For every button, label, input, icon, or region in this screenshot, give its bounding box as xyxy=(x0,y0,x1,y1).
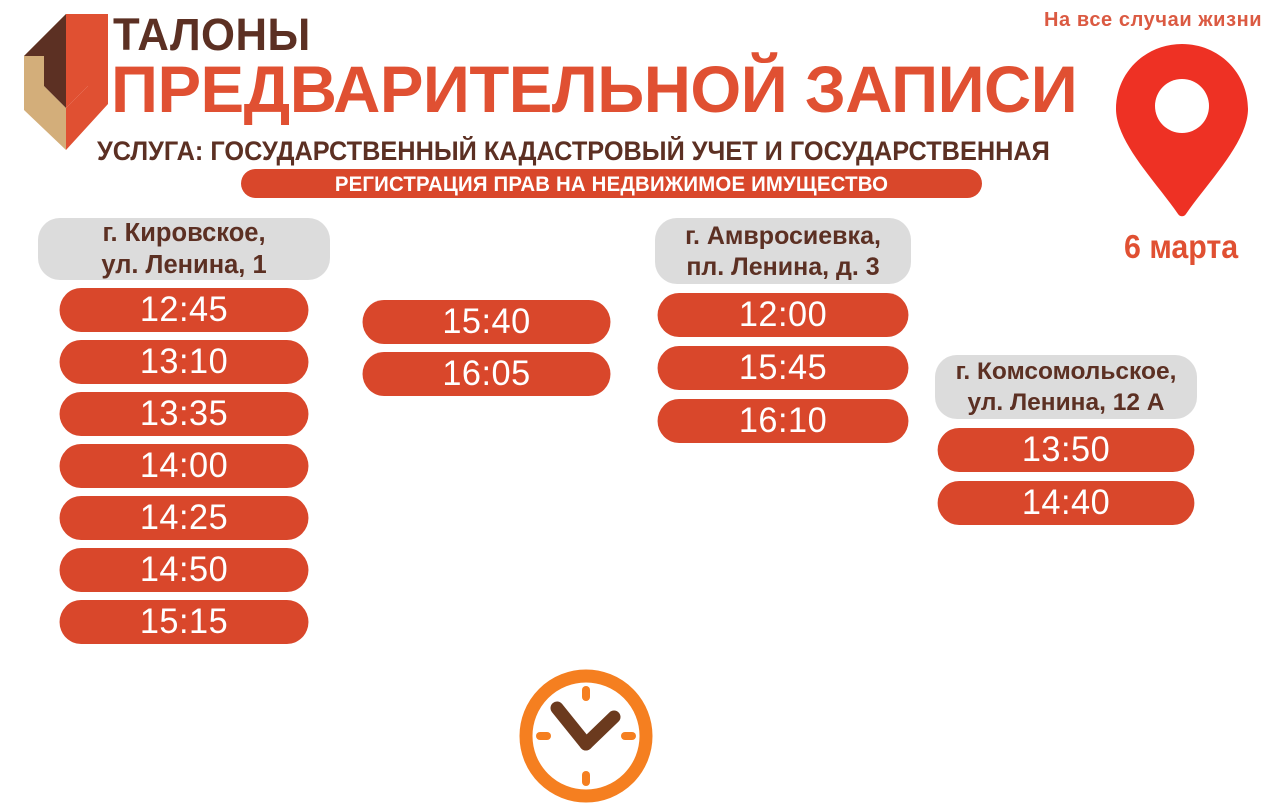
time-slot[interactable]: 15:40 xyxy=(363,300,611,344)
service-badge-label: РЕГИСТРАЦИЯ ПРАВ НА НЕДВИЖИМОЕ ИМУЩЕСТВО xyxy=(252,173,971,197)
page-title-main: ПРЕДВАРИТЕЛЬНОЙ ЗАПИСИ xyxy=(111,56,1077,122)
time-slot[interactable]: 15:45 xyxy=(658,346,909,390)
tagline: На все случаи жизни xyxy=(1044,9,1262,32)
time-slot[interactable]: 12:45 xyxy=(60,288,309,332)
time-slot[interactable]: 13:35 xyxy=(60,392,309,436)
time-slot[interactable]: 15:15 xyxy=(60,600,309,644)
location-line-1: г. Амвросиевка, xyxy=(685,220,881,252)
time-slot[interactable]: 14:25 xyxy=(60,496,309,540)
time-slot-list: 12:45 13:10 13:35 14:00 14:25 14:50 15:1… xyxy=(38,288,330,644)
time-slot[interactable]: 13:10 xyxy=(60,340,309,384)
time-slot-list: 15:40 16:05 xyxy=(360,300,613,396)
location-column-komsomolskoe: г. Комсомольское, ул. Ленина, 12 А 13:50… xyxy=(935,355,1197,525)
document-shield-logo xyxy=(22,12,110,152)
time-slot[interactable]: 14:00 xyxy=(60,444,309,488)
time-slot[interactable]: 16:10 xyxy=(658,399,909,443)
clock-icon xyxy=(516,666,656,806)
location-column-kirovskoe-overflow: 15:40 16:05 xyxy=(360,300,613,396)
time-slot-list: 13:50 14:40 xyxy=(935,428,1197,525)
location-column-kirovskoe: г. Кировское, ул. Ленина, 1 12:45 13:10 … xyxy=(38,218,330,644)
location-label: г. Кировское, ул. Ленина, 1 xyxy=(38,218,330,280)
location-column-amvrosievka: г. Амвросиевка, пл. Ленина, д. 3 12:00 1… xyxy=(655,218,911,443)
service-badge: РЕГИСТРАЦИЯ ПРАВ НА НЕДВИЖИМОЕ ИМУЩЕСТВО xyxy=(241,169,982,198)
date-label: 6 марта xyxy=(1124,228,1238,266)
appointment-poster: ТАЛОНЫ ПРЕДВАРИТЕЛЬНОЙ ЗАПИСИ УСЛУГА: ГО… xyxy=(0,0,1280,806)
location-line-2: ул. Ленина, 1 xyxy=(101,249,266,282)
location-line-2: пл. Ленина, д. 3 xyxy=(686,251,879,283)
time-slot[interactable]: 13:50 xyxy=(938,428,1195,472)
time-slot[interactable]: 12:00 xyxy=(658,293,909,337)
page-title-small: ТАЛОНЫ xyxy=(113,12,311,57)
location-label: г. Амвросиевка, пл. Ленина, д. 3 xyxy=(655,218,911,284)
time-slot[interactable]: 14:50 xyxy=(60,548,309,592)
time-slot-list: 12:00 15:45 16:10 xyxy=(655,293,911,443)
map-pin-icon xyxy=(1112,42,1252,218)
time-slot[interactable]: 14:40 xyxy=(938,481,1195,525)
service-description: УСЛУГА: ГОСУДАРСТВЕННЫЙ КАДАСТРОВЫЙ УЧЕТ… xyxy=(97,138,1050,165)
location-line-1: г. Комсомольское, xyxy=(956,356,1177,387)
location-line-1: г. Кировское, xyxy=(102,217,265,250)
time-slot[interactable]: 16:05 xyxy=(363,352,611,396)
location-line-2: ул. Ленина, 12 А xyxy=(968,387,1165,418)
location-label: г. Комсомольское, ул. Ленина, 12 А xyxy=(935,355,1197,419)
